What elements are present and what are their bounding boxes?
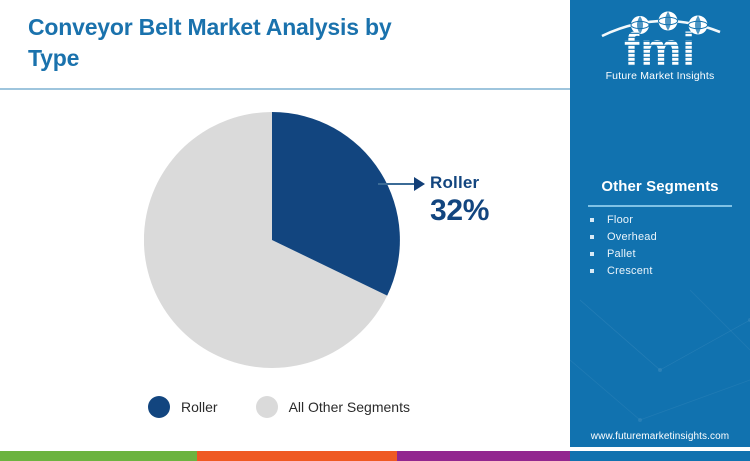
segment-label: Crescent	[607, 265, 653, 277]
legend-item-roller: Roller	[148, 396, 218, 418]
side-panel: fmi Future Market Insights Other Segment…	[570, 0, 750, 447]
strip-segment-blue	[570, 451, 750, 461]
pie-chart-svg	[144, 112, 400, 368]
strip-segment-purple	[397, 451, 570, 461]
legend-item-all-other-segments: All Other Segments	[256, 396, 410, 418]
segment-label: Pallet	[607, 248, 636, 260]
bullet-icon	[590, 252, 594, 256]
website-url[interactable]: www.futuremarketinsights.com	[570, 431, 750, 442]
segment-label: Overhead	[607, 231, 657, 243]
segment-label: Floor	[607, 214, 633, 226]
fmi-logo-svg: fmi Future Market Insights	[570, 2, 750, 84]
title-divider	[0, 88, 570, 90]
list-item: Floor	[590, 212, 740, 228]
infographic-canvas: Conveyor Belt Market Analysis by Type Ro…	[0, 0, 750, 461]
bullet-icon	[590, 235, 594, 239]
strip-segment-green	[0, 451, 197, 461]
legend-swatch-roller	[148, 396, 170, 418]
legend-label-roller: Roller	[181, 399, 218, 415]
bullet-icon	[590, 218, 594, 222]
panel-heading-rule	[588, 205, 732, 207]
callout-line	[378, 183, 416, 185]
bottom-color-strip	[0, 451, 750, 461]
list-item: Overhead	[590, 229, 740, 245]
callout-value: 32%	[430, 194, 489, 228]
page-title: Conveyor Belt Market Analysis by Type	[28, 12, 448, 74]
other-segments-list: Floor Overhead Pallet Crescent	[590, 212, 740, 280]
fmi-logo: fmi Future Market Insights	[570, 2, 750, 84]
strip-segment-orange	[197, 451, 397, 461]
bullet-icon	[590, 269, 594, 273]
pie-chart	[144, 112, 400, 368]
logo-wordmark: fmi	[624, 23, 696, 75]
legend-swatch-all-other-segments	[256, 396, 278, 418]
panel-heading: Other Segments	[570, 178, 750, 195]
legend-label-all-other-segments: All Other Segments	[289, 399, 410, 415]
callout-label: Roller	[430, 173, 479, 193]
chart-legend: Roller All Other Segments	[148, 396, 410, 418]
callout-arrow-icon	[414, 177, 425, 191]
list-item: Crescent	[590, 263, 740, 279]
list-item: Pallet	[590, 246, 740, 262]
logo-tagline: Future Market Insights	[606, 70, 715, 82]
